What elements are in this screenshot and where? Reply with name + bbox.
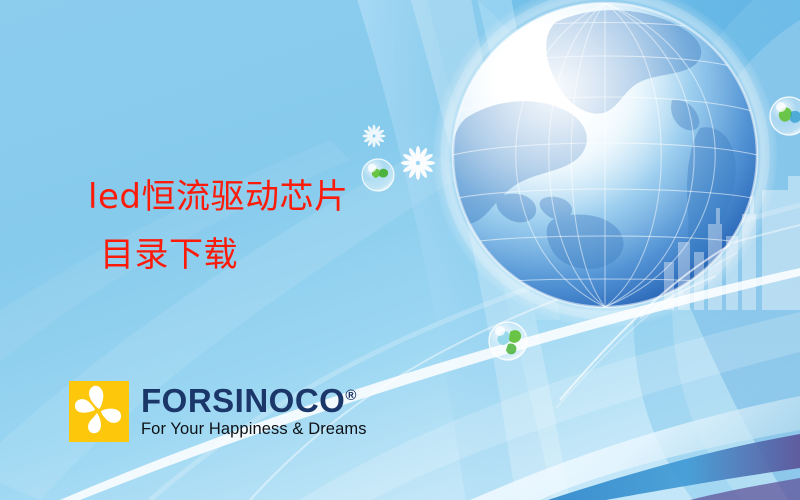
logo-tagline: For Your Happiness & Dreams [141,419,367,439]
forsinoco-pinwheel-mark [69,381,129,442]
registered-trademark-symbol: ® [345,387,357,404]
company-logo[interactable]: FORSINOCO® For Your Happiness & Dreams [69,381,367,442]
logo-wordmark-text: FORSINOCO [141,382,345,419]
headline-line-1: led恒流驱动芯片 [88,177,348,217]
headline-block: led恒流驱动芯片 目录下载 [88,168,348,284]
pinwheel-petals-icon [69,381,129,442]
logo-wordmark: FORSINOCO® [141,384,367,417]
bubble-center-low [489,322,527,360]
logo-text-block: FORSINOCO® For Your Happiness & Dreams [141,381,367,439]
bubble-small-left [362,159,394,191]
banner-root: led恒流驱动芯片 目录下载 FORSINOCO® For Your Happi… [0,0,800,500]
headline-line-2: 目录下载 [88,226,348,284]
